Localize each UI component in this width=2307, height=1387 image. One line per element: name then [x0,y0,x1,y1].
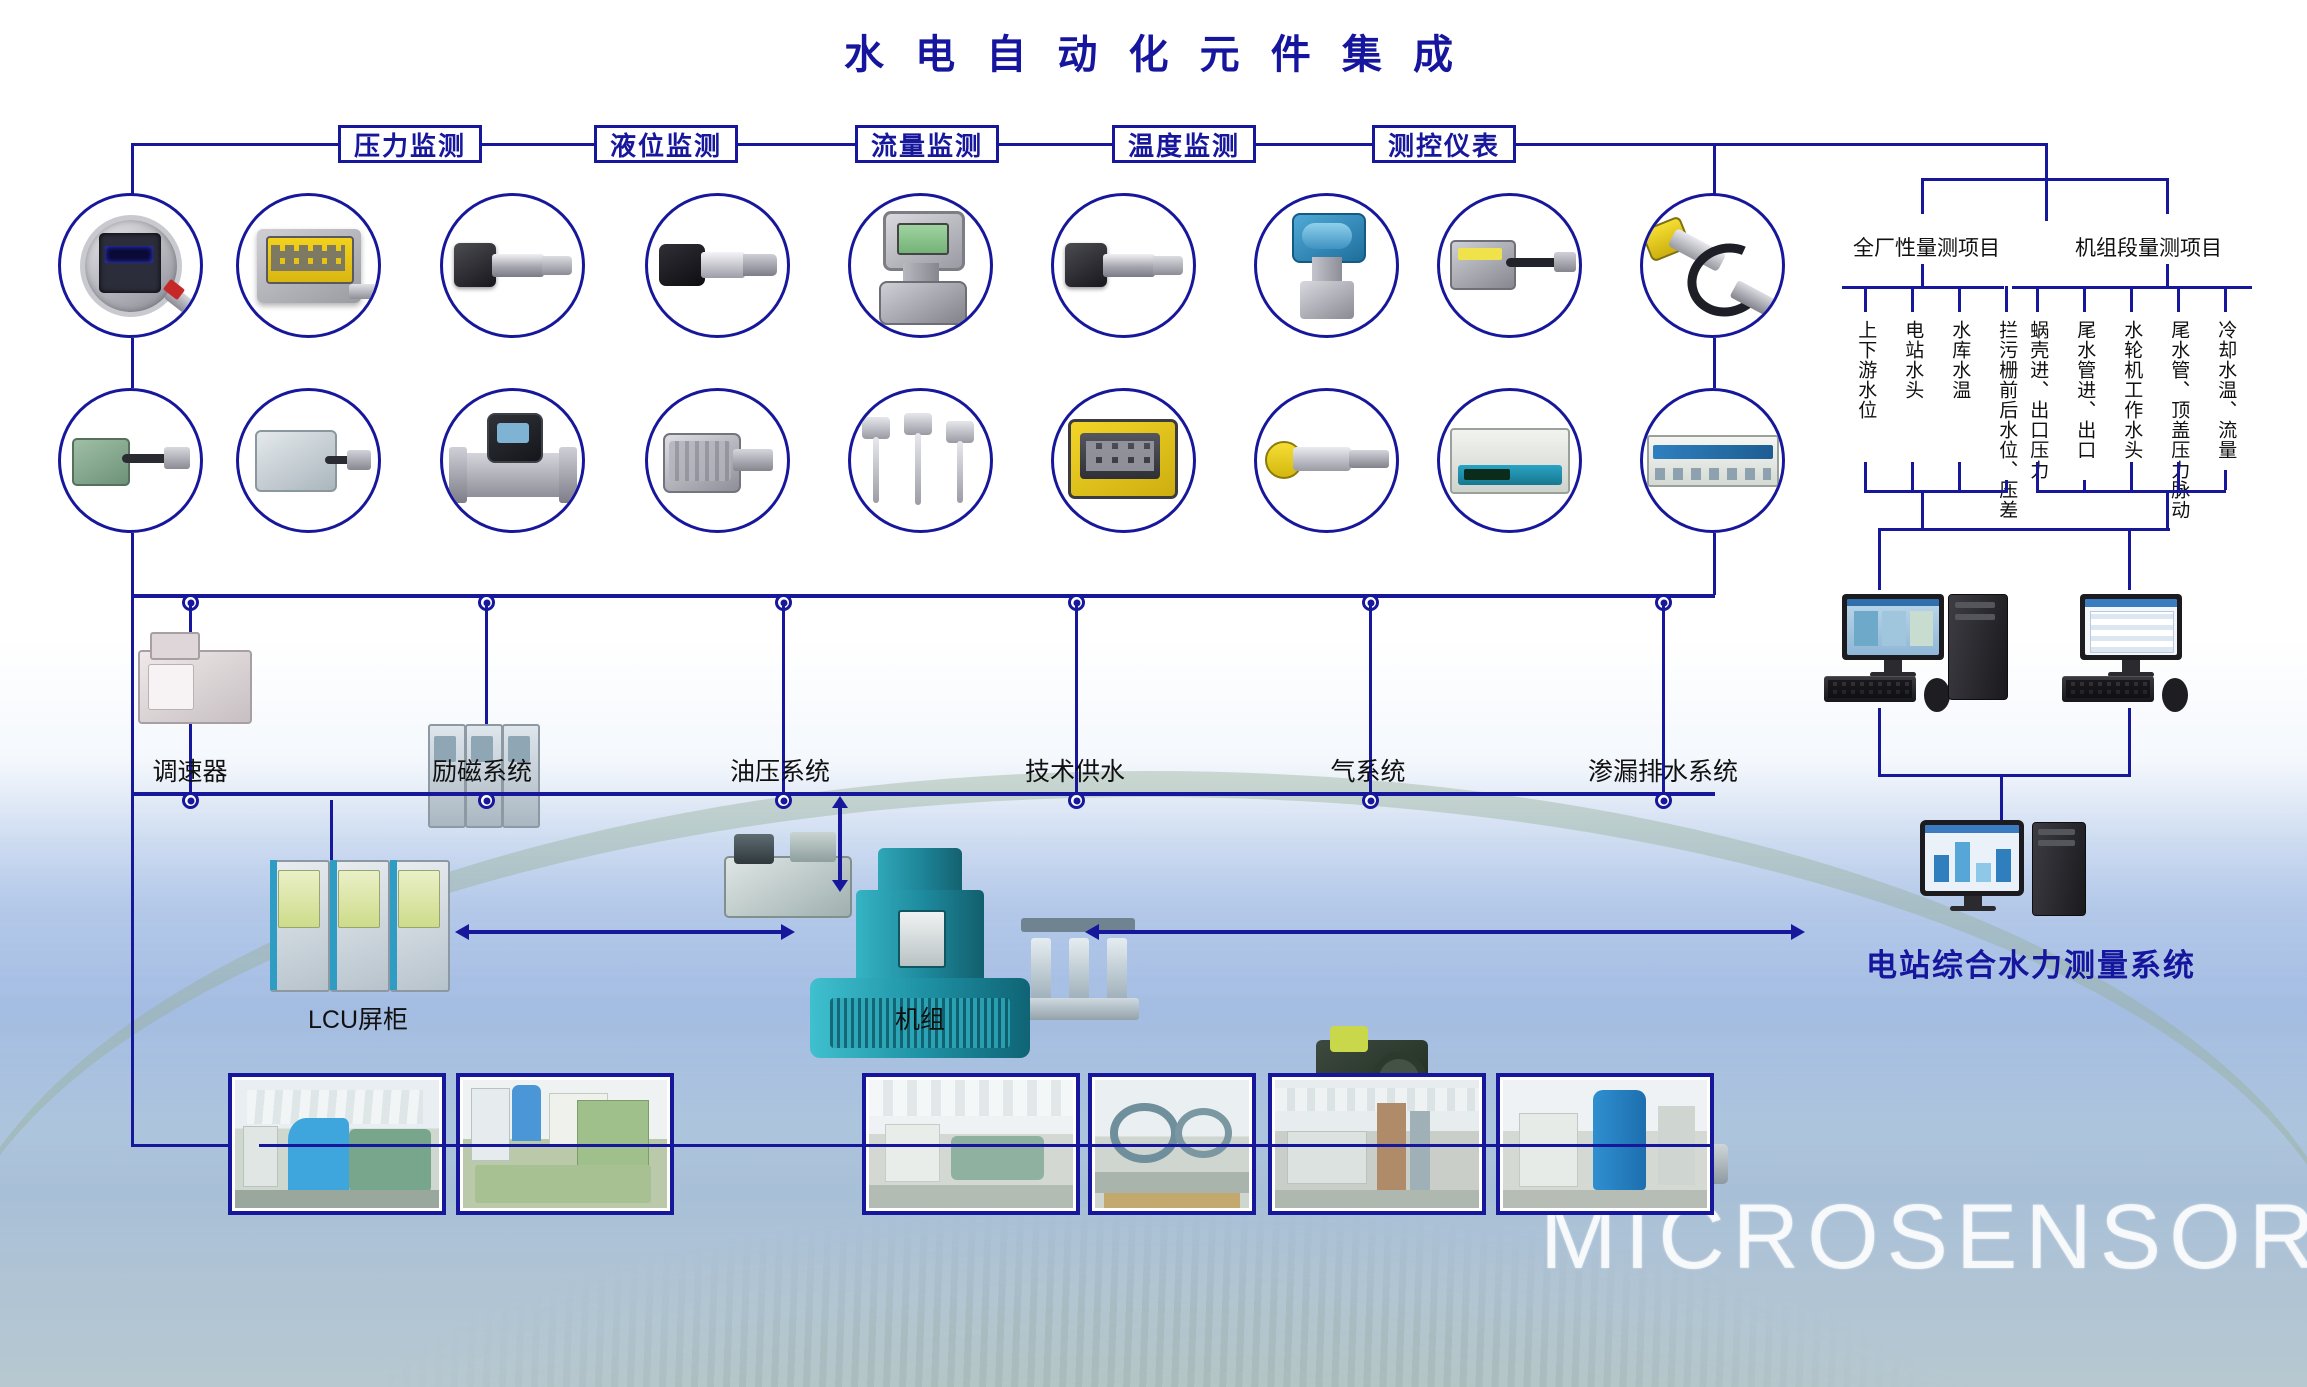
bus-junction-lower-2 [478,792,495,809]
sensor-circle-benchtop-indicator[interactable] [1437,388,1582,533]
label-oil-pressure-system: 油压系统 [690,752,870,788]
rtd-temperature-probes-icon [856,411,986,511]
pressure-transmitter-black-connector-icon [659,242,777,290]
label-excitation-system: 励磁系统 [392,752,572,788]
stub-right-branch [2045,143,2048,221]
workstation-feed-left [1878,528,1881,590]
sensor-circle-green-connector-level-probe[interactable] [58,388,203,533]
benchtop-indicator-icon [1450,428,1570,494]
pc-tower-video [1948,594,2008,700]
riser-to-lcu [330,800,333,862]
submersible-level-probe-coiled-icon [1643,218,1783,314]
signal-bus-upper [131,594,1715,598]
unit-item-stub-1 [2036,286,2039,312]
arrow-lcu-to-unit [455,922,795,942]
unit-collect-1 [2036,462,2039,490]
unit-collect-5 [2224,470,2227,490]
category-temperature-monitoring[interactable]: 温度监测 [1112,125,1256,163]
unit-collect-4 [2177,462,2180,490]
bus-junction-lower-1 [182,792,199,809]
ws-down-right [2128,708,2131,774]
electromagnetic-flowmeter-icon [453,413,573,509]
sensor-circle-cable-level-transmitter[interactable] [1437,193,1582,338]
measurement-item-turbine-working-head: 水轮机工作水头 [2121,320,2142,460]
rack-mount-measurement-unit-icon [1647,435,1779,487]
bus-junction-lower-4 [1068,792,1085,809]
measurement-item-cooling-water-temp-flow: 冷却水温、流量 [2215,320,2236,460]
monitor-data [2080,594,2182,660]
sensor-circle-flush-diaphragm-pressure-sensor[interactable] [1051,193,1196,338]
plant-item-stub-2 [1911,286,1914,312]
monitor-stand-hydraulic [1964,896,1982,906]
plant-item-stub-4 [2005,286,2008,312]
label-air-system: 气系统 [1278,752,1458,788]
photo-strip-connector [259,1144,1714,1147]
sensor-circle-electromagnetic-flowmeter[interactable] [440,388,585,533]
category-bus-right-extension [1747,143,2047,146]
plant-item-stub-3 [1958,286,1961,312]
label-seepage-drainage: 渗漏排水系统 [1558,752,1768,788]
sensor-circle-rack-mount-measurement-unit[interactable] [1640,388,1785,533]
unit-item-stub-3 [2130,286,2133,312]
differential-pressure-transmitter-icon [873,211,969,321]
right-branch-right-drop [2166,178,2169,214]
plant-collect-drop [1921,490,1924,528]
blue-field-pressure-transmitter-icon [1284,213,1370,319]
right-branch-left-drop [1921,178,1924,214]
sensor-circle-pressure-transmitter-black-head[interactable] [440,193,585,338]
mouse-video[interactable] [1924,678,1950,712]
category-level-monitoring[interactable]: 液位监测 [594,125,738,163]
label-generator-unit: 机组 [830,1000,1010,1036]
sensor-circle-insertion-flowmeter[interactable] [645,388,790,533]
label-governor: 调速器 [100,752,280,788]
measurement-item-draft-tube-inlet-outlet: 尾水管进、出口 [2074,320,2095,460]
label-technical-water: 技术供水 [985,752,1165,788]
hydraulic-measurement-workstation[interactable] [1920,820,2100,935]
bus-junction-lower-5 [1362,792,1379,809]
category-measurement-control-instruments[interactable]: 测控仪表 [1372,125,1516,163]
digital-pressure-controller-icon [80,215,182,317]
cable-level-transmitter-icon [1450,238,1570,294]
equipment-governor-icon [128,630,256,726]
lcu-cabinet-group [270,860,450,990]
arrow-unit-to-hydraulic-system [1085,922,1805,942]
page-title: 水 电 自 动 化 元 件 集 成 [0,22,2307,80]
monitor-video [1842,594,1944,660]
measurement-item-spiral-case-pressure: 蜗壳进、出口压力 [2027,320,2048,480]
monitor-base-hydraulic [1950,906,1996,911]
unit-group-drop [2166,264,2169,286]
plant-collect-bar [1864,490,2008,493]
unit-item-stub-4 [2177,286,2180,312]
sensor-circle-pressure-transmitter-black-connector[interactable] [645,193,790,338]
keyboard-video[interactable] [1824,676,1916,702]
sensor-circle-submersible-level-probe-coiled[interactable] [1640,193,1785,338]
workstation-feed-right-bar [2128,528,2170,531]
gray-junction-box-probe-icon [255,430,363,492]
plant-collect-3 [1958,462,1961,490]
header-unit-section-measurement-items: 机组段量测项目 [2075,232,2222,262]
plant-collect-4 [2005,480,2008,490]
category-pressure-monitoring[interactable]: 压力监测 [338,125,482,163]
header-plant-wide-measurement-items: 全厂性量测项目 [1853,232,2000,262]
left-riser [131,533,134,595]
monitor-stand-video [1884,660,1902,672]
signal-bus-lower [131,792,1715,796]
diagram-canvas: MICROSENSOR 水 电 自 动 化 元 件 集 成 压力监测 液位监测 … [0,0,2307,1387]
ws-down-left [1878,708,1881,774]
sensor-circle-digital-pressure-controller[interactable] [58,193,203,338]
monitor-stand-data [2122,660,2140,672]
pressure-transmitter-black-head-icon [454,243,572,289]
plant-item-stub-1 [1864,286,1867,312]
green-connector-level-probe-icon [72,434,190,488]
connector-col9 [1713,338,1716,388]
keyboard-data[interactable] [2062,676,2154,702]
connector-col1 [131,338,134,388]
label-lcu-cabinet: LCU屏柜 [258,1000,458,1036]
stub-pressure [131,143,134,195]
sensor-circle-yellow-case-data-logger[interactable] [1051,388,1196,533]
yellow-panel-pressure-switch-icon [257,229,361,303]
unit-item-stub-2 [2083,286,2086,312]
unit-collect-2 [2083,480,2086,490]
measurement-item-upstream-downstream-level: 上下游水位 [1855,320,1876,420]
stub-instruments [1713,143,1716,195]
workstation-feed-left-bar [1878,528,1924,531]
sensor-circle-handheld-calibrator[interactable] [1254,388,1399,533]
bus-junction-lower-3 [775,792,792,809]
unit-collect-drop [2166,490,2169,528]
sensor-circle-yellow-panel-pressure-switch[interactable] [236,193,381,338]
sensor-circle-gray-junction-box-probe[interactable] [236,388,381,533]
yellow-case-data-logger-icon [1068,419,1180,503]
flush-diaphragm-pressure-sensor-icon [1065,243,1183,289]
unit-collect-bar [2036,490,2226,493]
sensor-circle-rtd-temperature-probes[interactable] [848,388,993,533]
category-flow-monitoring[interactable]: 流量监测 [855,125,999,163]
right-riser [1713,533,1716,595]
plant-group-drop [1921,264,1924,286]
unit-item-stub-5 [2224,286,2227,312]
label-hydraulic-measurement-system: 电站综合水力测量系统 [1866,940,2196,985]
sensor-circle-differential-pressure-transmitter[interactable] [848,193,993,338]
arrow-bus-to-unit [830,796,850,892]
plant-collect-2 [1911,462,1914,490]
workstation-feed-right [2128,528,2131,590]
plant-collect-1 [1864,462,1867,490]
monitoring-workstation-data[interactable] [2058,594,2228,734]
unit-collect-3 [2130,462,2133,490]
bus-junction-lower-6 [1655,792,1672,809]
monitoring-workstation-video[interactable] [1812,594,2032,734]
sensor-circle-blue-field-pressure-transmitter[interactable] [1254,193,1399,338]
mouse-data[interactable] [2162,678,2188,712]
handheld-calibrator-icon [1265,435,1389,487]
monitor-hydraulic [1920,820,2024,896]
pc-tower-hydraulic [2032,822,2086,916]
ws-down-bar [1878,774,2131,777]
insertion-flowmeter-icon [663,423,773,499]
right-branch-header-bus [1921,178,2169,181]
measurement-item-reservoir-water-temp: 水库水温 [1949,320,1970,400]
measurement-item-station-head: 电站水头 [1902,320,1923,400]
